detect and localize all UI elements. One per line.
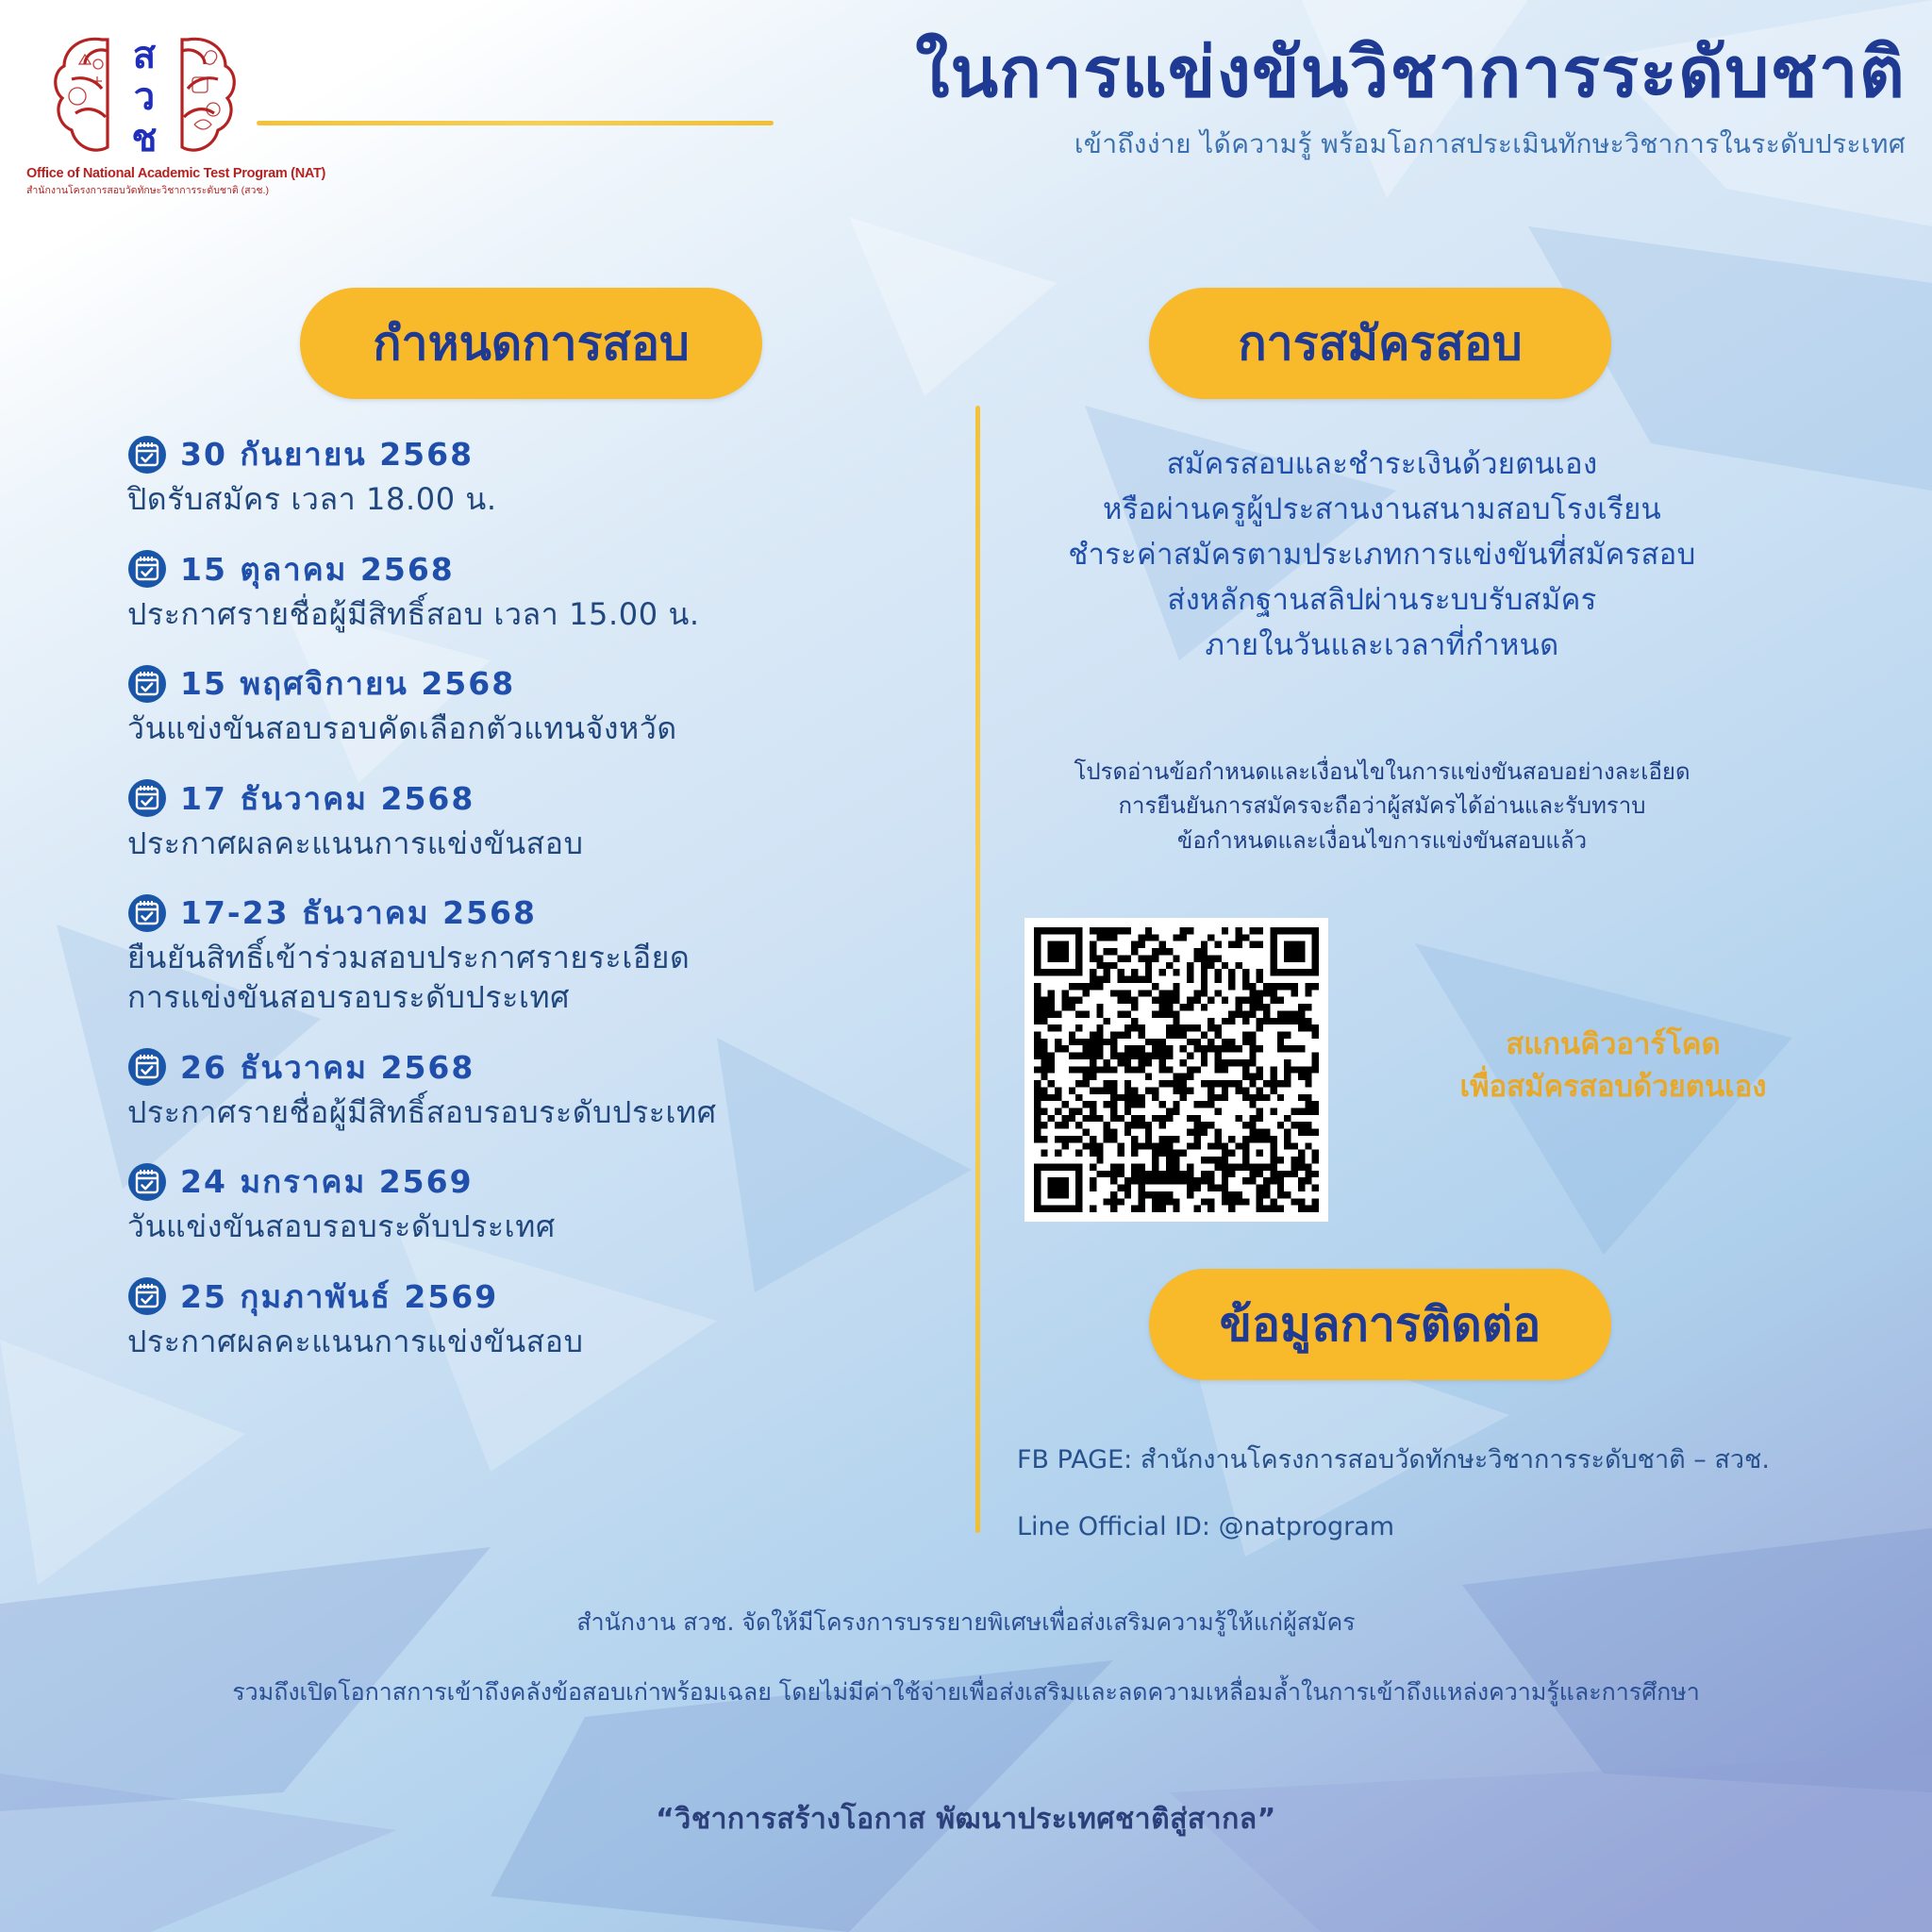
- page-title: ในการแข่งขันวิชาการระดับชาติ: [774, 32, 1906, 114]
- logo-letter-cho: ช: [131, 117, 157, 160]
- schedule-item-description: ประกาศผลคะแนนการแข่งขันสอบ: [127, 824, 958, 864]
- apply-terms-note: โปรดอ่านข้อกำหนดและเงื่อนไขในการแข่งขันส…: [986, 755, 1778, 858]
- schedule-item-header: 30 กันยายน 2568: [127, 429, 958, 479]
- calendar-check-icon: [127, 664, 167, 704]
- schedule-item-description: ประกาศรายชื่อผู้มีสิทธิ์สอบรอบระดับประเท…: [127, 1093, 958, 1133]
- title-rule-divider: [257, 121, 774, 125]
- section-heading-schedule: กำหนดการสอบ: [300, 288, 762, 399]
- section-heading-contact: ข้อมูลการติดต่อ: [1149, 1269, 1611, 1380]
- apply-instruction-line: ชำระค่าสมัครตามประเภทการแข่งขันที่สมัครส…: [1000, 532, 1764, 577]
- qr-caption-line: สแกนคิวอาร์โคด: [1387, 1024, 1840, 1066]
- footer-line-2: รวมถึงเปิดโอกาสการเข้าถึงคลังข้อสอบเก่าพ…: [0, 1674, 1932, 1711]
- schedule-item: 17-23 ธันวาคม 2568ยืนยันสิทธิ์เข้าร่วมสอ…: [127, 888, 958, 1017]
- qr-code[interactable]: [1024, 918, 1328, 1222]
- logo-name-en: Office of National Academic Test Program…: [26, 166, 262, 181]
- apply-note-line: โปรดอ่านข้อกำหนดและเงื่อนไขในการแข่งขันส…: [986, 755, 1778, 789]
- schedule-item-description: วันแข่งขันสอบรอบคัดเลือกตัวแทนจังหวัด: [127, 709, 958, 749]
- schedule-item: 30 กันยายน 2568ปิดรับสมัคร เวลา 18.00 น.: [127, 429, 958, 520]
- schedule-item: 17 ธันวาคม 2568ประกาศผลคะแนนการแข่งขันสอ…: [127, 774, 958, 864]
- schedule-item-date: 30 กันยายน 2568: [180, 429, 474, 479]
- brain-logo-icon: ส ว ช: [43, 23, 246, 164]
- section-heading-apply: การสมัครสอบ: [1149, 288, 1611, 399]
- schedule-item-description: ยืนยันสิทธิ์เข้าร่วมสอบประกาศรายระเอียดก…: [127, 939, 958, 1017]
- calendar-check-icon: [127, 1047, 167, 1087]
- footer-quote: “วิชาการสร้างโอกาส พัฒนาประเทศชาติสู่สาก…: [0, 1797, 1932, 1841]
- apply-instruction-line: หรือผ่านครูผู้ประสานงานสนามสอบโรงเรียน: [1000, 487, 1764, 532]
- schedule-item-header: 25 กุมภาพันธ์ 2569: [127, 1272, 958, 1322]
- schedule-item-header: 26 ธันวาคม 2568: [127, 1042, 958, 1092]
- title-block: ในการแข่งขันวิชาการระดับชาติ เข้าถึงง่าย…: [774, 32, 1906, 165]
- contact-line[interactable]: Line Official ID: @natprogram: [1017, 1510, 1904, 1543]
- schedule-item-description: วันแข่งขันสอบรอบระดับประเทศ: [127, 1207, 958, 1247]
- calendar-check-icon: [127, 435, 167, 475]
- qr-code-icon: [1034, 927, 1319, 1212]
- schedule-item-description: ประกาศผลคะแนนการแข่งขันสอบ: [127, 1323, 958, 1362]
- schedule-item-description: ปิดรับสมัคร เวลา 18.00 น.: [127, 480, 958, 520]
- schedule-item-header: 17 ธันวาคม 2568: [127, 774, 958, 824]
- schedule-item-header: 17-23 ธันวาคม 2568: [127, 888, 958, 938]
- schedule-item-date: 26 ธันวาคม 2568: [180, 1042, 475, 1092]
- apply-note-line: ข้อกำหนดและเงื่อนไขการแข่งขันสอบแล้ว: [986, 824, 1778, 858]
- qr-caption-line: เพื่อสมัครสอบด้วยตนเอง: [1387, 1066, 1840, 1108]
- schedule-item: 15 พฤศจิกายน 2568วันแข่งขันสอบรอบคัดเลือ…: [127, 658, 958, 749]
- schedule-item-header: 15 ตุลาคม 2568: [127, 544, 958, 594]
- schedule-item: 25 กุมภาพันธ์ 2569ประกาศผลคะแนนการแข่งขั…: [127, 1272, 958, 1362]
- logo-name-th: สำนักงานโครงการสอบวัดทักษะวิชาการระดับชา…: [26, 182, 262, 198]
- footer-note: สำนักงาน สวช. จัดให้มีโครงการบรรยายพิเศษ…: [0, 1604, 1932, 1711]
- calendar-check-icon: [127, 1276, 167, 1316]
- qr-caption: สแกนคิวอาร์โคดเพื่อสมัครสอบด้วยตนเอง: [1387, 1024, 1840, 1108]
- organization-logo: ส ว ช Office of National Academic Test P…: [26, 23, 262, 225]
- schedule-list: 30 กันยายน 2568ปิดรับสมัคร เวลา 18.00 น.…: [127, 429, 958, 1386]
- column-divider: [975, 406, 980, 1533]
- schedule-item-date: 17 ธันวาคม 2568: [180, 774, 475, 824]
- apply-instruction-line: สมัครสอบและชำระเงินด้วยตนเอง: [1000, 441, 1764, 487]
- schedule-item-date: 24 มกราคม 2569: [180, 1157, 474, 1207]
- page-subtitle: เข้าถึงง่าย ได้ความรู้ พร้อมโอกาสประเมิน…: [774, 124, 1906, 165]
- schedule-item-date: 15 พฤศจิกายน 2568: [180, 658, 515, 708]
- contact-facebook[interactable]: FB PAGE: สำนักงานโครงการสอบวัดทักษะวิชาก…: [1017, 1443, 1904, 1476]
- schedule-item-date: 25 กุมภาพันธ์ 2569: [180, 1272, 498, 1322]
- footer-line-1: สำนักงาน สวช. จัดให้มีโครงการบรรยายพิเศษ…: [0, 1604, 1932, 1641]
- poster-canvas: ส ว ช Office of National Academic Test P…: [0, 0, 1932, 1932]
- logo-letter-so: ส: [132, 34, 156, 77]
- apply-instruction-line: ภายในวันและเวลาที่กำหนด: [1000, 623, 1764, 668]
- apply-instructions: สมัครสอบและชำระเงินด้วยตนเองหรือผ่านครูผ…: [1000, 441, 1764, 668]
- logo-letter-wo: ว: [133, 75, 154, 119]
- apply-note-line: การยืนยันการสมัครจะถือว่าผู้สมัครได้อ่าน…: [986, 789, 1778, 823]
- contact-details: FB PAGE: สำนักงานโครงการสอบวัดทักษะวิชาก…: [1017, 1443, 1904, 1577]
- schedule-item-date: 17-23 ธันวาคม 2568: [180, 888, 537, 938]
- schedule-item-header: 24 มกราคม 2569: [127, 1157, 958, 1207]
- schedule-item-description: ประกาศรายชื่อผู้มีสิทธิ์สอบ เวลา 15.00 น…: [127, 595, 958, 635]
- calendar-check-icon: [127, 778, 167, 818]
- schedule-item-header: 15 พฤศจิกายน 2568: [127, 658, 958, 708]
- poster-header: ส ว ช Office of National Academic Test P…: [0, 0, 1932, 236]
- schedule-item: 15 ตุลาคม 2568ประกาศรายชื่อผู้มีสิทธิ์สอ…: [127, 544, 958, 635]
- calendar-check-icon: [127, 893, 167, 933]
- calendar-check-icon: [127, 1162, 167, 1202]
- schedule-item: 26 ธันวาคม 2568ประกาศรายชื่อผู้มีสิทธิ์ส…: [127, 1042, 958, 1133]
- schedule-item-date: 15 ตุลาคม 2568: [180, 544, 455, 594]
- calendar-check-icon: [127, 549, 167, 589]
- apply-instruction-line: ส่งหลักฐานสลิปผ่านระบบรับสมัคร: [1000, 577, 1764, 623]
- schedule-item: 24 มกราคม 2569วันแข่งขันสอบรอบระดับประเท…: [127, 1157, 958, 1247]
